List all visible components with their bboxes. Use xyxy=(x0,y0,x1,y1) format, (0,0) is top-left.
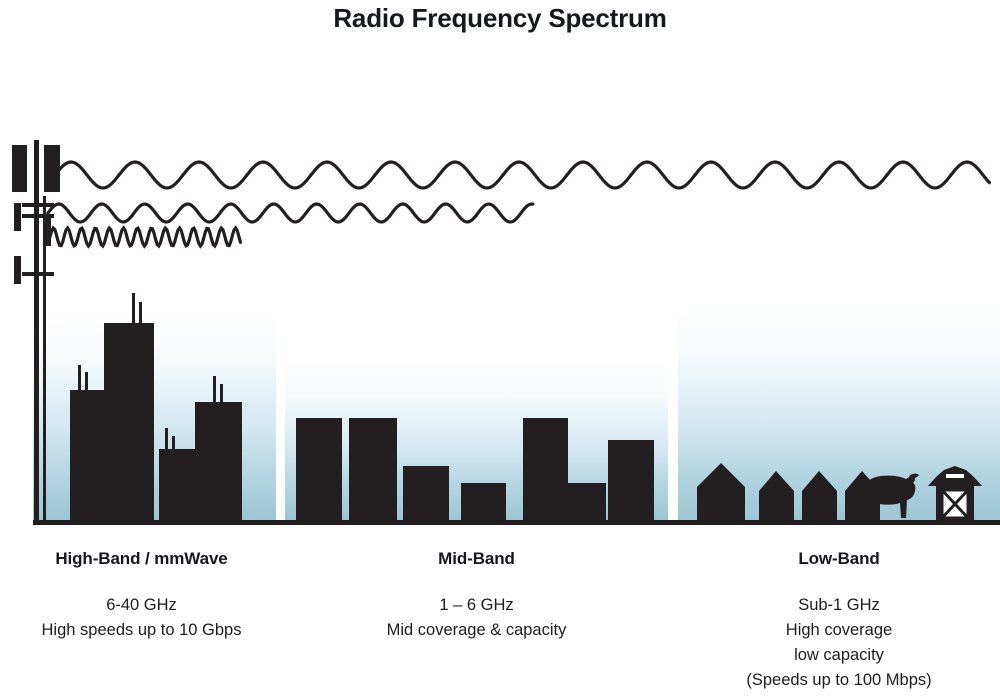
panel-desc-high-band: 6-40 GHz High speeds up to 10 Gbps xyxy=(10,593,273,643)
building xyxy=(461,483,506,520)
antenna-panel xyxy=(44,145,60,192)
panel-desc-line: 1 – 6 GHz xyxy=(285,593,668,618)
panel-desc-line: Sub-1 GHz xyxy=(678,593,1000,618)
panel-desc-line: High speeds up to 10 Gbps xyxy=(10,618,273,643)
building xyxy=(523,418,568,520)
tower-pole xyxy=(34,140,39,525)
building xyxy=(349,418,397,520)
panel-desc-low-band: Sub-1 GHz High coverage low capacity (Sp… xyxy=(678,593,1000,693)
panel-desc-line: 6-40 GHz xyxy=(10,593,273,618)
panel-label-high-band: High-Band / mmWave xyxy=(20,549,263,569)
panel-label-low-band: Low-Band xyxy=(678,549,1000,569)
tower-crossarm xyxy=(22,214,54,218)
antenna-panel xyxy=(12,145,27,192)
high-frequency-wave xyxy=(50,228,240,246)
ground-line xyxy=(33,520,1000,525)
wave-group xyxy=(48,162,989,246)
panel-desc-line: low capacity xyxy=(678,643,1000,668)
skyscraper xyxy=(195,402,242,520)
panel-desc-line: Mid coverage & capacity xyxy=(285,618,668,643)
skyscraper xyxy=(104,323,154,520)
panel-label-mid-band: Mid-Band xyxy=(285,549,668,569)
panel-desc-mid-band: 1 – 6 GHz Mid coverage & capacity xyxy=(285,593,668,643)
panel-desc-line: (Speeds up to 100 Mbps) xyxy=(678,668,1000,693)
building xyxy=(296,418,342,520)
infographic-canvas: Radio Frequency Spectrum xyxy=(0,0,1000,700)
panel-desc-line: High coverage xyxy=(678,618,1000,643)
building xyxy=(608,440,654,520)
antenna-panel xyxy=(14,256,21,284)
tower-crossarm xyxy=(22,203,54,207)
antenna-panel xyxy=(14,203,21,231)
building xyxy=(568,483,606,520)
mid-frequency-wave xyxy=(48,204,533,222)
tower-crossarm xyxy=(22,272,54,276)
spire xyxy=(132,293,135,328)
building xyxy=(403,466,449,520)
low-frequency-wave xyxy=(55,162,989,188)
